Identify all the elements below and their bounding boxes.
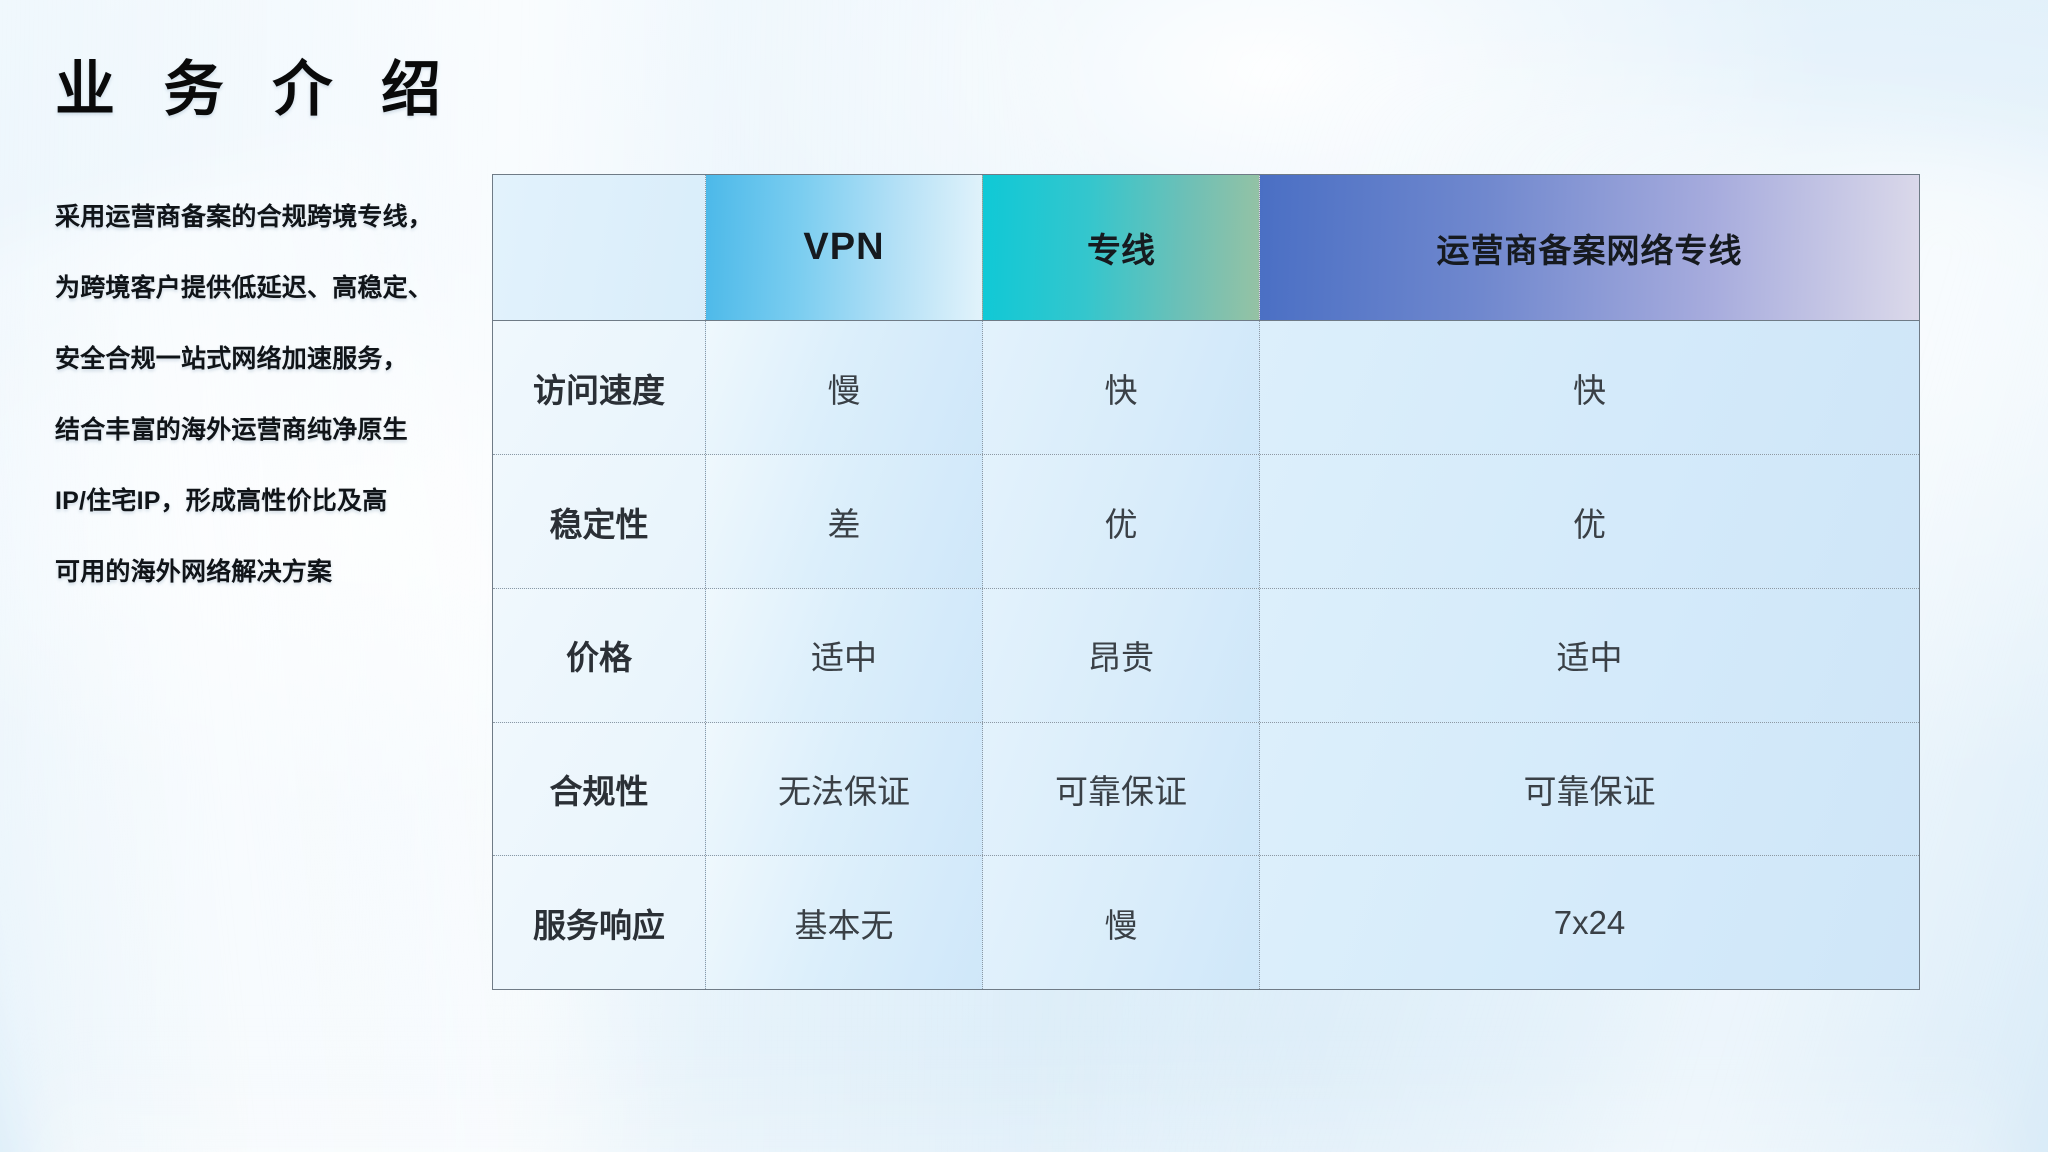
- cell-carrier-line: 优: [1259, 455, 1919, 588]
- cell-dedicated-line: 昂贵: [982, 589, 1259, 722]
- table-header-dedicated-line-label: 专线: [1087, 223, 1155, 272]
- cell-dedicated-line: 优: [982, 455, 1259, 588]
- row-label: 访问速度: [493, 321, 705, 454]
- cell-carrier-line: 快: [1259, 321, 1919, 454]
- row-label: 服务响应: [493, 856, 705, 989]
- intro-line: 为跨境客户提供低延迟、高稳定、: [55, 253, 485, 324]
- cell-dedicated-line: 可靠保证: [982, 723, 1259, 856]
- row-label: 合规性: [493, 723, 705, 856]
- intro-line: 安全合规一站式网络加速服务，: [55, 324, 485, 395]
- table-header-blank: [493, 175, 705, 320]
- intro-line: 结合丰富的海外运营商纯净原生: [55, 395, 485, 466]
- table-header-dedicated-line: 专线: [982, 175, 1259, 320]
- cell-vpn: 慢: [705, 321, 982, 454]
- table-row: 访问速度 慢 快 快: [493, 321, 1919, 454]
- row-label: 稳定性: [493, 455, 705, 588]
- cell-carrier-line: 7x24: [1259, 856, 1919, 989]
- table-row: 稳定性 差 优 优: [493, 454, 1919, 588]
- intro-line: IP/住宅IP，形成高性价比及高: [55, 466, 485, 537]
- intro-line: 可用的海外网络解决方案: [55, 537, 485, 608]
- table-header-carrier-line: 运营商备案网络专线: [1259, 175, 1919, 320]
- intro-paragraph: 采用运营商备案的合规跨境专线， 为跨境客户提供低延迟、高稳定、 安全合规一站式网…: [55, 182, 485, 608]
- table-header-carrier-line-label: 运营商备案网络专线: [1437, 224, 1743, 272]
- table-row: 服务响应 基本无 慢 7x24: [493, 855, 1919, 989]
- cell-carrier-line: 可靠保证: [1259, 723, 1919, 856]
- cell-dedicated-line: 快: [982, 321, 1259, 454]
- page-title: 业 务 介 绍: [55, 55, 457, 124]
- cell-vpn: 差: [705, 455, 982, 588]
- table-header-vpn-label: VPN: [803, 226, 884, 269]
- cell-vpn: 适中: [705, 589, 982, 722]
- cell-vpn: 基本无: [705, 856, 982, 989]
- cell-dedicated-line: 慢: [982, 856, 1259, 989]
- table-row: 价格 适中 昂贵 适中: [493, 588, 1919, 722]
- cell-carrier-line: 适中: [1259, 589, 1919, 722]
- cell-vpn: 无法保证: [705, 723, 982, 856]
- table-header-row: VPN 专线 运营商备案网络专线: [493, 175, 1919, 321]
- comparison-table: VPN 专线 运营商备案网络专线 访问速度 慢 快 快 稳定性 差 优 优 价格…: [492, 174, 1920, 990]
- table-row: 合规性 无法保证 可靠保证 可靠保证: [493, 722, 1919, 856]
- intro-line: 采用运营商备案的合规跨境专线，: [55, 182, 485, 253]
- slide-stage: 业 务 介 绍 采用运营商备案的合规跨境专线， 为跨境客户提供低延迟、高稳定、 …: [0, 0, 2048, 1152]
- row-label: 价格: [493, 589, 705, 722]
- table-header-vpn: VPN: [705, 175, 982, 320]
